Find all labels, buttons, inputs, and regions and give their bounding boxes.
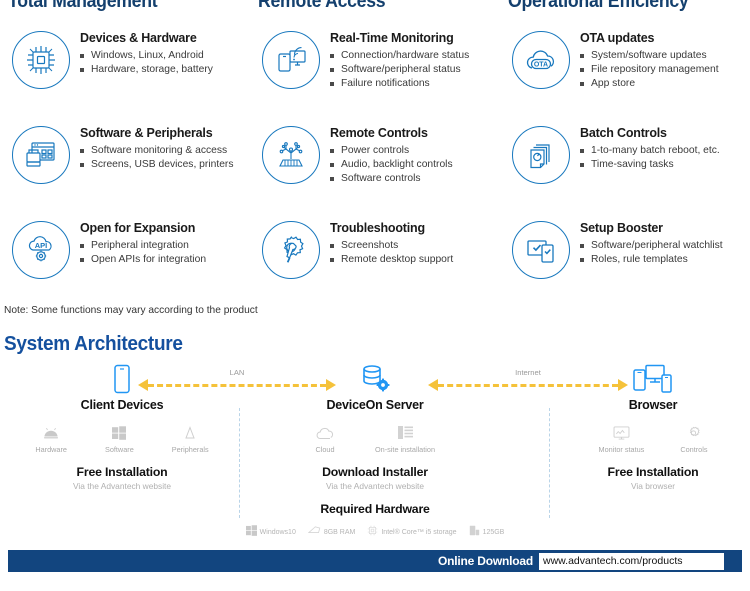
server-sub-onsite: On-site installation	[375, 424, 435, 454]
cloud-icon	[315, 424, 335, 442]
feature-text: Real-Time Monitoring Connection/hardware…	[330, 27, 469, 91]
arch-node-name: Client Devices	[16, 398, 228, 412]
feature-bullets: 1-to-many batch reboot, etc. Time-saving…	[580, 144, 720, 172]
bullet: Screenshots	[330, 239, 453, 253]
bullet: Software/peripheral status	[330, 63, 469, 77]
bullet: Peripheral integration	[80, 239, 206, 253]
feature-item: Real-Time Monitoring Connection/hardware…	[258, 27, 500, 110]
feature-item: OTA OTA updates System/software updates …	[508, 27, 750, 110]
requirement-ram: 8GB RAM	[308, 523, 356, 541]
feature-text: Troubleshooting Screenshots Remote deskt…	[330, 217, 453, 267]
feature-bullets: Power controls Audio, backlight controls…	[330, 144, 453, 186]
feature-text: Open for Expansion Peripheral integratio…	[80, 217, 206, 267]
server-block-sub: Via the Advantech website	[250, 481, 500, 491]
server-block-head: Download Installer	[250, 465, 500, 479]
bullet: System/software updates	[580, 49, 719, 63]
feature-heading: Troubleshooting	[330, 221, 453, 235]
sub-icon-label: On-site installation	[375, 445, 435, 454]
feature-bullets: System/software updates File repository …	[580, 49, 719, 91]
divider-server-browser	[549, 408, 550, 518]
online-download-label: Online Download	[438, 554, 533, 568]
client-sub-icons: Hardware Software	[16, 424, 228, 454]
client-sub-peripherals: Peripherals	[172, 424, 209, 454]
system-architecture-diagram: LAN Internet Client Devices	[0, 362, 750, 537]
feature-text: Setup Booster Software/peripheral watchl…	[580, 217, 723, 267]
feature-bullets: Windows, Linux, Android Hardware, storag…	[80, 49, 213, 77]
server-sub-cloud: Cloud	[315, 424, 335, 454]
column-title: Operational Efficiency	[508, 0, 733, 15]
feature-column-operational-efficiency: Operational Efficiency OTA OTA updates S…	[500, 0, 750, 300]
cpu-icon	[367, 523, 378, 541]
gear-wrench-icon	[262, 221, 320, 279]
browser-block-sub: Via browser	[560, 481, 746, 491]
feature-item: Remote Controls Power controls Audio, ba…	[258, 122, 500, 205]
api-cloud-icon: API	[12, 221, 70, 279]
bullet: Windows, Linux, Android	[80, 49, 213, 63]
feature-bullets: Software monitoring & access Screens, US…	[80, 144, 234, 172]
feature-text: Batch Controls 1-to-many batch reboot, e…	[580, 122, 720, 172]
bullet: Remote desktop support	[330, 253, 453, 267]
sub-icon-label: Controls	[680, 445, 707, 454]
multi-device-icon	[560, 362, 746, 394]
bullet: File repository management	[580, 63, 719, 77]
bullet: Open APIs for integration	[80, 253, 206, 267]
onsite-install-icon	[375, 424, 435, 442]
bullet: Roles, rule templates	[580, 253, 723, 267]
client-block-sub: Via the Advantech website	[16, 481, 228, 491]
bullet: Software monitoring & access	[80, 144, 234, 158]
requirement-label: Windows10	[260, 529, 296, 536]
client-block-head: Free Installation	[16, 465, 228, 479]
setup-booster-icon	[512, 221, 570, 279]
server-requirements-row: Windows10 8GB RAM	[250, 523, 500, 541]
feature-text: Remote Controls Power controls Audio, ba…	[330, 122, 453, 186]
arch-node-browser: Browser Monitor status	[560, 362, 746, 491]
product-note: Note: Some functions may vary according …	[4, 305, 258, 316]
feature-text: Devices & Hardware Windows, Linux, Andro…	[80, 27, 213, 77]
bullet: Audio, backlight controls	[330, 158, 453, 172]
feature-column-total-management: Total Management Devices & Hardware Wind…	[0, 0, 250, 300]
feature-text: OTA updates System/software updates File…	[580, 27, 719, 91]
svg-text:API: API	[35, 241, 48, 250]
feature-columns: Total Management Devices & Hardware Wind…	[0, 0, 750, 300]
bullet: Power controls	[330, 144, 453, 158]
footer-bar: Online Download www.advantech.com/produc…	[8, 550, 742, 572]
system-architecture-title: System Architecture	[4, 333, 183, 356]
requirement-cpu: Intel® Core™ i5 storage	[367, 523, 456, 541]
feature-bullets: Software/peripheral watchlist Roles, rul…	[580, 239, 723, 267]
sub-icon-label: Monitor status	[599, 445, 645, 454]
divider-client-server	[239, 408, 240, 518]
client-sub-hardware: Hardware	[35, 424, 67, 454]
feature-heading: Remote Controls	[330, 126, 453, 140]
monitor-status-icon	[599, 424, 645, 442]
feature-heading: Software & Peripherals	[80, 126, 234, 140]
feature-item: Setup Booster Software/peripheral watchl…	[508, 217, 750, 300]
column-title: Remote Access	[258, 0, 483, 15]
windows-icon	[246, 523, 257, 541]
infographic-page: Total Management Devices & Hardware Wind…	[0, 0, 750, 591]
browser-block-head: Free Installation	[560, 465, 746, 479]
feature-heading: Setup Booster	[580, 221, 723, 235]
bullet: 1-to-many batch reboot, etc.	[580, 144, 720, 158]
svg-text:OTA: OTA	[534, 62, 548, 69]
feature-text: Software & Peripherals Software monitori…	[80, 122, 234, 172]
download-url[interactable]: www.advantech.com/products	[539, 553, 724, 570]
arch-node-name: Browser	[560, 398, 746, 412]
arch-node-deviceon-server: DeviceOn Server Cloud	[250, 362, 500, 541]
bullet: Hardware, storage, battery	[80, 63, 213, 77]
browser-sub-controls: Controls	[680, 424, 707, 454]
browser-sub-icons: Monitor status Controls	[560, 424, 746, 454]
feature-column-remote-access: Remote Access Real-Time Monitoring	[250, 0, 500, 300]
chip-icon	[12, 31, 70, 89]
feature-heading: Open for Expansion	[80, 221, 206, 235]
bullet: Failure notifications	[330, 77, 469, 91]
feature-item: Batch Controls 1-to-many batch reboot, e…	[508, 122, 750, 205]
feature-heading: OTA updates	[580, 31, 719, 45]
database-gear-icon	[250, 362, 500, 394]
bullet: App store	[580, 77, 719, 91]
sub-icon-label: Cloud	[315, 445, 335, 454]
arch-node-client-devices: Client Devices Hardware	[16, 362, 228, 491]
requirement-storage: 125GB	[469, 523, 505, 541]
windows-icon	[105, 424, 134, 442]
batch-stack-icon	[512, 126, 570, 184]
server-sub-icons: Cloud On-site installation	[250, 424, 500, 454]
ram-icon	[308, 523, 321, 541]
feature-bullets: Screenshots Remote desktop support	[330, 239, 453, 267]
tablet-icon	[16, 362, 228, 394]
remote-controls-icon	[262, 126, 320, 184]
bullet: Connection/hardware status	[330, 49, 469, 63]
requirement-label: 8GB RAM	[324, 529, 356, 536]
feature-heading: Devices & Hardware	[80, 31, 213, 45]
realtime-monitor-icon	[262, 31, 320, 89]
software-peripherals-icon	[12, 126, 70, 184]
feature-heading: Batch Controls	[580, 126, 720, 140]
sub-icon-label: Hardware	[35, 445, 67, 454]
feature-item: Devices & Hardware Windows, Linux, Andro…	[8, 27, 250, 110]
feature-bullets: Connection/hardware status Software/peri…	[330, 49, 469, 91]
android-icon	[35, 424, 67, 442]
requirement-windows: Windows10	[246, 523, 296, 541]
feature-heading: Real-Time Monitoring	[330, 31, 469, 45]
storage-icon	[469, 523, 480, 541]
bullet: Screens, USB devices, printers	[80, 158, 234, 172]
controls-gear-icon	[680, 424, 707, 442]
column-title: Total Management	[8, 0, 233, 15]
bullet: Software controls	[330, 172, 453, 186]
feature-item: Troubleshooting Screenshots Remote deskt…	[258, 217, 500, 300]
requirement-label: 125GB	[483, 529, 505, 536]
requirement-label: Intel® Core™ i5 storage	[381, 529, 456, 536]
feature-item: API Open for Expansion Peripheral integr…	[8, 217, 250, 300]
ota-cloud-icon: OTA	[512, 31, 570, 89]
sub-icon-label: Software	[105, 445, 134, 454]
feature-bullets: Peripheral integration Open APIs for int…	[80, 239, 206, 267]
sub-icon-label: Peripherals	[172, 445, 209, 454]
peripherals-icon	[172, 424, 209, 442]
feature-item: Software & Peripherals Software monitori…	[8, 122, 250, 205]
bullet: Time-saving tasks	[580, 158, 720, 172]
server-requirements-head: Required Hardware	[250, 502, 500, 516]
browser-sub-monitor-status: Monitor status	[599, 424, 645, 454]
arch-node-name: DeviceOn Server	[250, 398, 500, 412]
bullet: Software/peripheral watchlist	[580, 239, 723, 253]
client-sub-software: Software	[105, 424, 134, 454]
